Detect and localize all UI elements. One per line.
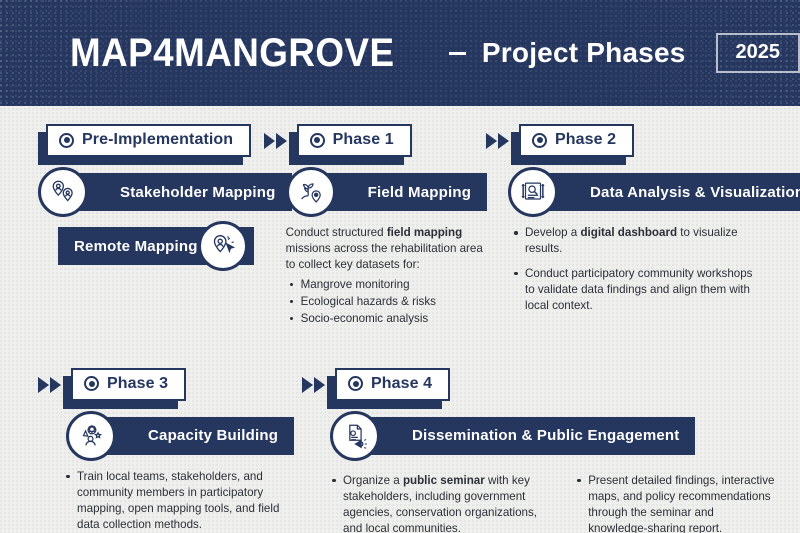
item-bar: Stakeholder Mapping <box>64 173 292 211</box>
chip-phase-2[interactable]: Phase 2 <box>486 124 776 157</box>
item-label: Capacity Building <box>148 427 278 444</box>
double-arrow-icon <box>486 133 509 149</box>
column-phase-4: Phase 4 Dissemi <box>296 368 776 533</box>
item-bar: Dissemination & Public Engagement <box>356 417 695 455</box>
bullet-bold: digital dashboard <box>580 226 677 239</box>
skills-training-icon <box>66 411 116 461</box>
phase-4-bullets-right: Present detailed findings, interactive m… <box>573 473 776 533</box>
radio-dot-icon <box>84 376 99 391</box>
item-bar: Data Analysis & Visualization <box>534 173 800 211</box>
phase-4-column-2: Present detailed findings, interactive m… <box>573 469 776 533</box>
item-label: Field Mapping <box>368 184 471 201</box>
chip-label: Phase 4 <box>371 375 432 393</box>
column-phase-1: Phase 1 Field M <box>264 124 486 328</box>
item-label: Remote Mapping <box>74 238 198 255</box>
item-stakeholder-mapping[interactable]: Stakeholder Mapping <box>38 173 234 211</box>
paragraph-tail: missions across the rehabilitation area … <box>286 242 483 271</box>
phase-1-description: Conduct structured field mapping mission… <box>286 225 486 327</box>
item-bar: Field Mapping <box>312 173 487 211</box>
item-field-mapping[interactable]: Field Mapping <box>286 173 486 211</box>
chip-phase-1[interactable]: Phase 1 <box>264 124 486 157</box>
list-item: Mangrove monitoring <box>286 277 486 293</box>
map-pin-cursor-icon <box>198 221 248 271</box>
paragraph-bold: field mapping <box>387 226 462 239</box>
column-pre-implementation: Pre-Implementation Stakehold <box>24 124 264 265</box>
bullet-lead: Develop a <box>525 226 580 239</box>
item-dissemination-public-engagement[interactable]: Dissemination & Public Engagement <box>330 417 640 455</box>
radio-dot-icon <box>532 133 547 148</box>
chip-phase-3[interactable]: Phase 3 <box>38 368 296 401</box>
bullet-lead: Organize a <box>343 474 403 487</box>
column-phase-3: Phase 3 Capacity Building <box>24 368 296 533</box>
title-divider <box>449 52 466 55</box>
list-item: Ecological hazards & risks <box>286 294 486 310</box>
document-megaphone-icon <box>330 411 380 461</box>
item-label: Data Analysis & Visualization <box>590 184 800 201</box>
list-item: Train local teams, stakeholders, and com… <box>62 469 296 533</box>
phase-2-description: Develop a digital dashboard to visualize… <box>510 225 758 314</box>
chip-label: Phase 2 <box>555 131 616 149</box>
radio-dot-icon <box>59 133 74 148</box>
column-phase-2: Phase 2 Data Analysis & Visu <box>486 124 776 323</box>
phase-4-bullets-left: Organize a public seminar with key stake… <box>328 473 547 533</box>
list-item: Socio-economic analysis <box>286 311 486 327</box>
phase-row-top: Pre-Implementation Stakehold <box>24 124 776 328</box>
chip-pre-implementation[interactable]: Pre-Implementation <box>46 124 264 157</box>
phase-4-description: Organize a public seminar with key stake… <box>328 469 776 533</box>
bullet-bold: public seminar <box>403 474 485 487</box>
chip-label: Phase 3 <box>107 375 168 393</box>
chip-label: Pre-Implementation <box>82 131 233 149</box>
item-bar: Capacity Building <box>92 417 294 455</box>
item-label: Dissemination & Public Engagement <box>412 427 679 444</box>
paragraph-lead: Conduct structured <box>286 226 387 239</box>
double-arrow-icon <box>38 377 61 393</box>
page-header: MAP4MANGROVE Project Phases 2025 <box>0 0 800 106</box>
phases-board: Pre-Implementation Stakehold <box>0 106 800 533</box>
phase-1-bullets: Mangrove monitoring Ecological hazards &… <box>286 277 486 327</box>
list-item: Develop a digital dashboard to visualize… <box>510 225 758 257</box>
item-capacity-building[interactable]: Capacity Building <box>66 417 266 455</box>
bullet-lead: Conduct participatory community workshop… <box>525 267 752 312</box>
phase-3-bullets: Train local teams, stakeholders, and com… <box>62 469 296 533</box>
list-item: Present detailed findings, interactive m… <box>573 473 776 533</box>
radio-dot-icon <box>310 133 325 148</box>
list-item: Organize a public seminar with key stake… <box>328 473 547 533</box>
blueprint-analysis-icon <box>508 167 558 217</box>
brand-title: MAP4MANGROVE <box>70 31 394 76</box>
phase-row-bottom: Phase 3 Capacity Building <box>24 368 776 533</box>
phase-3-description: Train local teams, stakeholders, and com… <box>62 469 296 533</box>
phase-4-column-1: Organize a public seminar with key stake… <box>328 469 547 533</box>
mangrove-sprout-pin-icon <box>286 167 336 217</box>
item-label: Stakeholder Mapping <box>120 184 276 201</box>
bullet-lead: Present detailed findings, interactive m… <box>588 474 774 533</box>
stakeholder-pins-icon <box>38 167 88 217</box>
double-arrow-icon <box>264 133 287 149</box>
chip-phase-4[interactable]: Phase 4 <box>302 368 776 401</box>
phase-1-paragraph: Conduct structured field mapping mission… <box>286 225 486 273</box>
item-data-analysis-visualization[interactable]: Data Analysis & Visualization <box>508 173 776 211</box>
year-badge: 2025 <box>716 33 800 73</box>
double-arrow-icon <box>302 377 325 393</box>
radio-dot-icon <box>348 376 363 391</box>
phase-2-bullets: Develop a digital dashboard to visualize… <box>510 225 758 314</box>
list-item: Conduct participatory community workshop… <box>510 266 758 314</box>
chip-label: Phase 1 <box>333 131 394 149</box>
bullet-lead: Train local teams, stakeholders, and com… <box>77 470 279 531</box>
page-subtitle: Project Phases <box>482 37 686 69</box>
item-remote-mapping[interactable]: Remote Mapping <box>58 227 248 265</box>
